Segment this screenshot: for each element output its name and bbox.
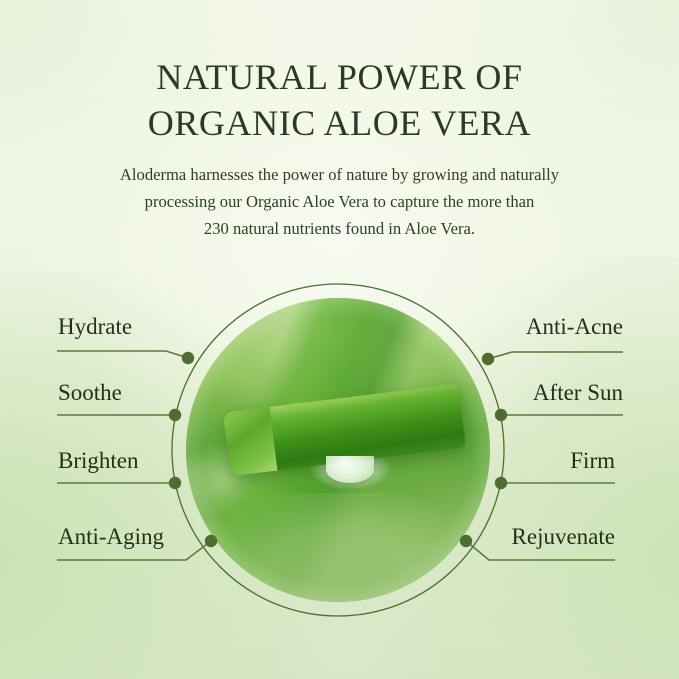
connector-line-anti-acne [488,352,623,359]
benefit-label-soothe[interactable]: Soothe [58,381,122,404]
connector-line-hydrate [57,351,188,358]
node-dot-soothe[interactable] [169,409,181,421]
node-dot-rejuvenate[interactable] [460,535,472,547]
benefits-diagram [0,0,679,679]
infographic-canvas: NATURAL POWER OF ORGANIC ALOE VERA Alode… [0,0,679,679]
benefit-label-rejuvenate[interactable]: Rejuvenate [512,525,615,548]
node-dot-brighten[interactable] [169,477,181,489]
benefit-label-firm[interactable]: Firm [570,449,615,472]
node-dot-hydrate[interactable] [182,352,194,364]
benefit-label-anti-aging[interactable]: Anti-Aging [58,525,164,548]
benefit-label-hydrate[interactable]: Hydrate [58,315,132,338]
node-dot-anti-aging[interactable] [205,535,217,547]
node-dot-after-sun[interactable] [495,409,507,421]
benefit-label-brighten[interactable]: Brighten [58,449,139,472]
benefit-label-after-sun[interactable]: After Sun [533,381,623,404]
benefit-label-anti-acne[interactable]: Anti-Acne [526,315,623,338]
diagram-outer-ring [172,284,504,616]
node-dot-anti-acne[interactable] [482,353,494,365]
node-dot-firm[interactable] [495,477,507,489]
